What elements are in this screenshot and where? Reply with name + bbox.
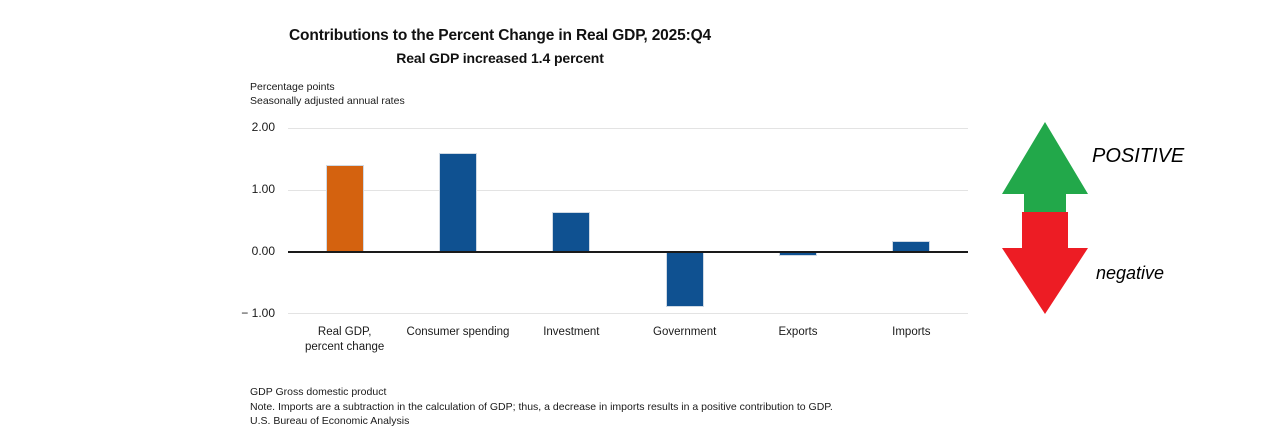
gridline [288,313,968,314]
footnote-source: U.S. Bureau of Economic Analysis [250,414,833,429]
bar [552,212,590,252]
bar [666,252,704,307]
gridline [288,190,968,191]
x-axis-tick-label: Imports [831,325,991,340]
arrow-legend-graphic [1000,118,1090,318]
x-axis-tick-label-line: percent change [265,340,425,355]
zero-axis-line [288,251,968,253]
gridline [288,128,968,129]
y-axis-tick-label: − 1.00 [213,306,275,320]
footnote-abbreviation: GDP Gross domestic product [250,385,833,400]
unit-line-1: Percentage points [250,80,405,94]
y-axis-tick-label: 2.00 [213,120,275,134]
down-arrow-icon [1002,212,1088,314]
bar [326,165,364,252]
legend: POSITIVE negative [990,118,1276,318]
footnotes: GDP Gross domestic product Note. Imports… [250,385,833,429]
bar [439,153,477,252]
unit-line-2: Seasonally adjusted annual rates [250,94,405,108]
chart-plot-area [288,128,968,314]
axis-unit-caption: Percentage points Seasonally adjusted an… [250,80,405,108]
footnote-note: Note. Imports are a subtraction in the c… [250,400,833,415]
legend-negative-label: negative [1096,263,1164,284]
y-axis-tick-label: 0.00 [213,244,275,258]
x-axis-tick-label-line: Imports [831,325,991,340]
page-title: Contributions to the Percent Change in R… [0,27,1000,45]
chart-subtitle: Real GDP increased 1.4 percent [0,50,1000,66]
y-axis-tick-label: 1.00 [213,182,275,196]
legend-positive-label: POSITIVE [1092,145,1184,168]
